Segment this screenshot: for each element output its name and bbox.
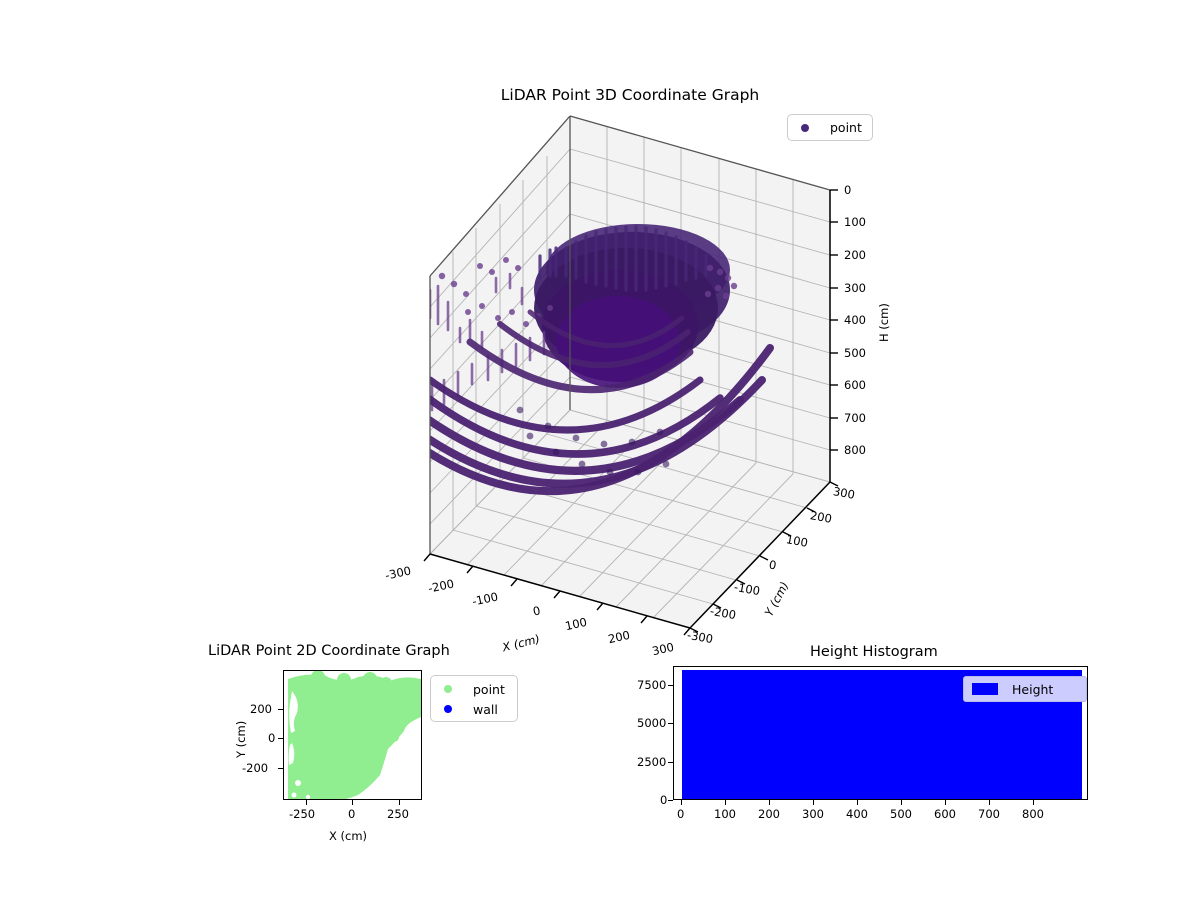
xhist-tickmark-100 <box>725 800 726 805</box>
z3d-tick-6: 600 <box>844 378 866 392</box>
lidar-2d-title: LiDAR Point 2D Coordinate Graph <box>208 643 450 659</box>
yhist-tick-3: 7500 <box>637 678 666 692</box>
xhist-tickmark-700 <box>989 800 990 805</box>
xhist-tick-1: 100 <box>714 807 736 821</box>
z3d-axis-label: H (cm) <box>877 303 891 342</box>
x2d-tick-1: 0 <box>348 807 355 821</box>
y2d-tickmark-200 <box>278 709 283 710</box>
legend-label-point: point <box>816 120 862 135</box>
height-histogram-legend[interactable]: Height <box>963 676 1087 702</box>
legend-label-height: Height <box>1000 682 1053 697</box>
z3d-tick-7: 700 <box>844 411 866 425</box>
legend-entry-point[interactable]: point <box>794 117 866 138</box>
yhist-tick-0: 0 <box>660 793 667 807</box>
z3d-tick-0: 0 <box>844 183 851 197</box>
xhist-tick-3: 300 <box>802 807 824 821</box>
y2d-tick-2: 200 <box>250 702 272 716</box>
x2d-axis-label: X (cm) <box>329 829 367 843</box>
point-marker-icon <box>794 124 816 132</box>
xhist-tickmark-0 <box>681 800 682 805</box>
legend-entry-point-2d[interactable]: point <box>437 679 511 699</box>
yhist-tick-2: 5000 <box>637 716 666 730</box>
x2d-tickmark-250 <box>399 800 400 805</box>
x2d-tickmark-neg250 <box>306 800 307 805</box>
xhist-tick-0: 0 <box>677 807 684 821</box>
yhist-tick-1: 2500 <box>637 755 666 769</box>
x2d-tick-0: -250 <box>289 807 315 821</box>
legend-label-wall-2d: wall <box>459 702 498 717</box>
yhist-tickmark-7500 <box>668 685 673 686</box>
legend-label-point-2d: point <box>459 682 505 697</box>
xhist-tickmark-200 <box>769 800 770 805</box>
xhist-tick-4: 400 <box>846 807 868 821</box>
xhist-tickmark-800 <box>1033 800 1034 805</box>
lidar-3d-legend[interactable]: point <box>787 114 873 141</box>
z3d-tick-3: 300 <box>844 281 866 295</box>
y2d-axis-label: Y (cm) <box>234 721 248 758</box>
x2d-tick-2: 250 <box>387 807 409 821</box>
lidar-2d-scatter <box>284 671 422 800</box>
xhist-tickmark-300 <box>813 800 814 805</box>
height-patch-icon <box>970 683 1000 695</box>
yhist-tickmark-2500 <box>668 762 673 763</box>
wall-marker-icon <box>437 705 459 713</box>
lidar-3d-axes: LiDAR Point 3D Coordinate Graph <box>370 80 890 660</box>
xhist-tick-7: 700 <box>978 807 1000 821</box>
xhist-tickmark-500 <box>901 800 902 805</box>
yhist-tickmark-5000 <box>668 723 673 724</box>
z3d-tick-4: 400 <box>844 313 866 327</box>
lidar-2d-legend[interactable]: point wall <box>430 675 518 722</box>
xhist-tick-5: 500 <box>890 807 912 821</box>
z3d-tick-1: 100 <box>844 215 866 229</box>
y2d-tickmark-0 <box>278 738 283 739</box>
xhist-tick-2: 200 <box>758 807 780 821</box>
point-marker-icon <box>437 685 459 693</box>
z3d-tick-5: 500 <box>844 346 866 360</box>
y2d-tick-0: -200 <box>242 761 268 775</box>
y2d-tickmark-neg200 <box>278 768 283 769</box>
xhist-tickmark-400 <box>857 800 858 805</box>
yhist-tickmark-0 <box>668 800 673 801</box>
x2d-tickmark-0 <box>352 800 353 805</box>
legend-entry-wall-2d[interactable]: wall <box>437 699 511 719</box>
xhist-tick-6: 600 <box>934 807 956 821</box>
y2d-tick-1: 0 <box>268 731 275 745</box>
legend-entry-height[interactable]: Height <box>970 679 1080 699</box>
z3d-tick-2: 200 <box>844 248 866 262</box>
lidar-3d-canvas <box>370 80 890 660</box>
height-histogram-axes: Height Histogram 7500 5000 2500 0 0 100 … <box>640 640 1110 840</box>
z3d-tick-8: 800 <box>844 443 866 457</box>
height-histogram-title: Height Histogram <box>810 644 938 660</box>
matplotlib-figure: LiDAR Point 3D Coordinate Graph <box>0 0 1200 900</box>
xhist-tickmark-600 <box>945 800 946 805</box>
xhist-tick-8: 800 <box>1022 807 1044 821</box>
lidar-2d-plot-area[interactable] <box>283 670 422 800</box>
